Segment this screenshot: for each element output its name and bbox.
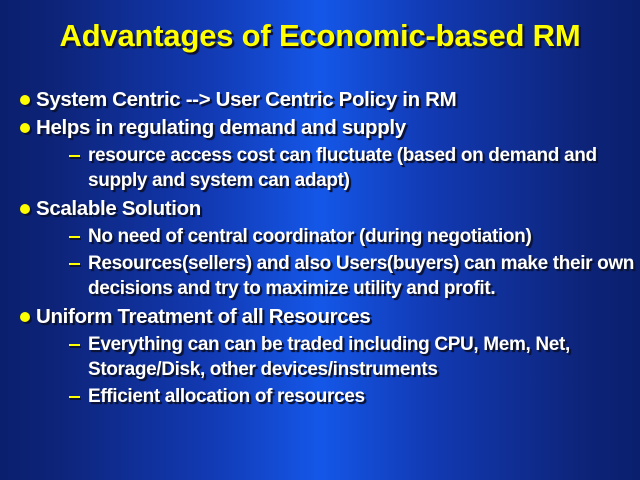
presentation-slide: Advantages of Economic-based RM System C… (0, 0, 640, 480)
bullet-text: Efficient allocation of resources (88, 384, 640, 409)
bullet-item: Scalable Solution (0, 196, 640, 221)
bullet-item: System Centric --> User Centric Policy i… (0, 87, 640, 112)
sub-bullet-item: No need of central coordinator (during n… (0, 224, 640, 249)
dash-bullet-icon (69, 344, 80, 346)
page-title: Advantages of Economic-based RM (60, 18, 581, 54)
filled-circle-bullet-icon (20, 123, 30, 133)
dash-bullet-icon (69, 236, 80, 238)
sub-bullet-item: resource access cost can fluctuate (base… (0, 143, 640, 193)
sub-bullet-item: Efficient allocation of resources (0, 384, 640, 409)
bullet-text: Resources(sellers) and also Users(buyers… (88, 251, 640, 301)
dash-bullet-icon (69, 155, 80, 157)
slide-body: System Centric --> User Centric Policy i… (0, 84, 640, 476)
bullet-text: Uniform Treatment of all Resources (36, 304, 640, 329)
filled-circle-bullet-icon (20, 95, 30, 105)
slide-title-block: Advantages of Economic-based RM (0, 18, 640, 54)
bullet-text: Scalable Solution (36, 196, 640, 221)
sub-bullet-item: Resources(sellers) and also Users(buyers… (0, 251, 640, 301)
bullet-text: System Centric --> User Centric Policy i… (36, 87, 640, 112)
bullet-item: Uniform Treatment of all Resources (0, 304, 640, 329)
filled-circle-bullet-icon (20, 312, 30, 322)
bullet-text: No need of central coordinator (during n… (88, 224, 640, 249)
sub-bullet-item: Everything can can be traded including C… (0, 332, 640, 382)
bullet-text: Helps in regulating demand and supply (36, 115, 640, 140)
dash-bullet-icon (69, 396, 80, 398)
dash-bullet-icon (69, 263, 80, 265)
bullet-text: Everything can can be traded including C… (88, 332, 640, 382)
bullet-item: Helps in regulating demand and supply (0, 115, 640, 140)
filled-circle-bullet-icon (20, 204, 30, 214)
bullet-text: resource access cost can fluctuate (base… (88, 143, 640, 193)
